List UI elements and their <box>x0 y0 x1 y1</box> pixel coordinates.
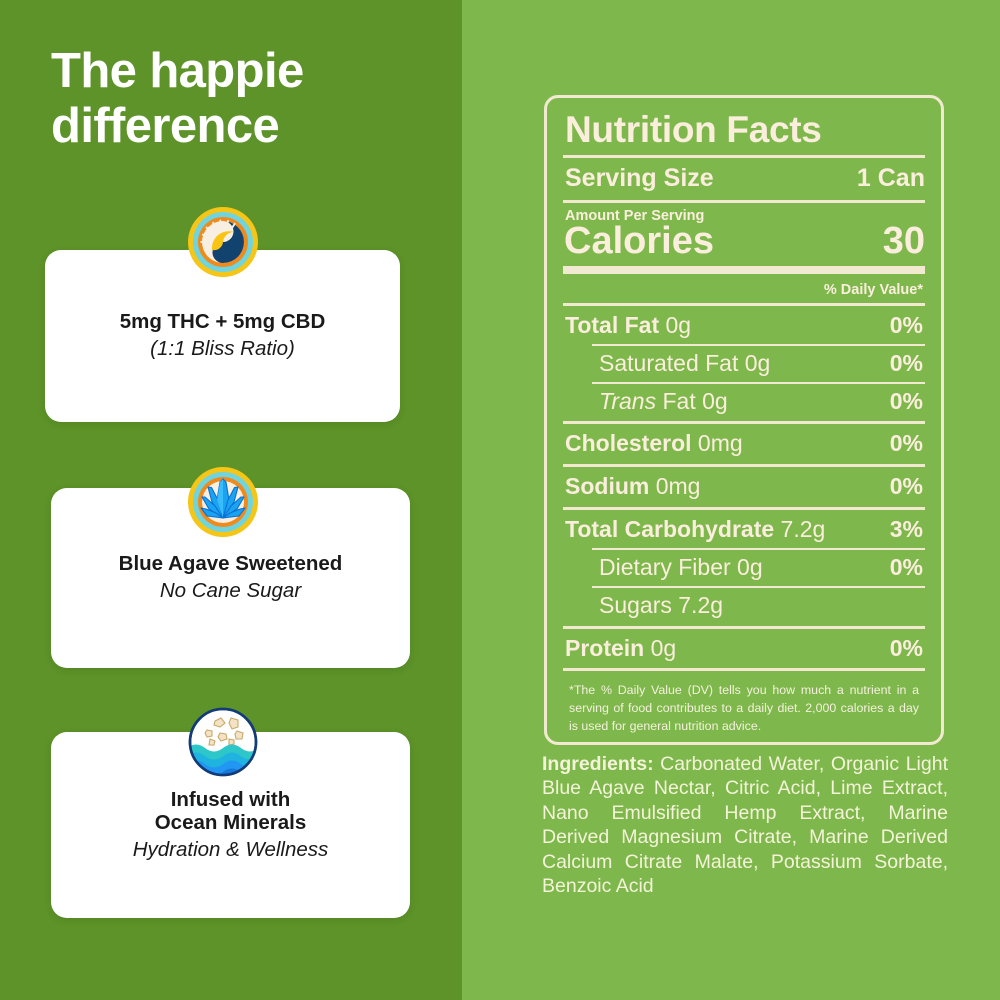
divider <box>592 548 925 550</box>
page-title: The happie difference <box>51 44 431 154</box>
headline-line-2: difference <box>51 99 431 154</box>
divider <box>563 155 925 158</box>
right-nutrition-panel: Nutrition Facts Serving Size 1 Can Amoun… <box>462 0 1000 1000</box>
nutrient-label: Protein 0g <box>565 636 676 661</box>
nutrition-facts-panel: Nutrition Facts Serving Size 1 Can Amoun… <box>544 95 944 745</box>
left-feature-panel: The happie difference 5mg THC + 5mg CBD … <box>0 0 462 1000</box>
calories-label: Calories <box>564 221 714 262</box>
nutrient-label: Saturated Fat 0g <box>599 351 770 376</box>
divider <box>563 464 925 467</box>
serving-size-row: Serving Size 1 Can <box>563 163 925 195</box>
divider <box>563 303 925 306</box>
nutrient-daily-value: 0% <box>890 431 923 456</box>
nutrient-daily-value: 0% <box>890 313 923 338</box>
feature-card-title: Blue Agave Sweetened <box>105 553 357 576</box>
serving-size-label: Serving Size <box>565 165 714 192</box>
agave-plant-icon <box>187 466 259 538</box>
ingredients-block: Ingredients: Carbonated Water, Organic L… <box>542 752 948 898</box>
page-root: The happie difference 5mg THC + 5mg CBD … <box>0 0 1000 1000</box>
divider <box>563 507 925 510</box>
nutrient-row: Trans Fat 0g0% <box>563 387 925 417</box>
calories-row: Calories 30 <box>563 221 925 262</box>
sun-moon-icon <box>187 206 259 278</box>
divider <box>592 586 925 588</box>
divider-thick <box>563 266 925 274</box>
divider <box>563 668 925 671</box>
nutrient-daily-value: 0% <box>890 389 923 414</box>
nutrient-rows: Total Fat 0g0%Saturated Fat 0g0%Trans Fa… <box>563 311 925 663</box>
ocean-minerals-icon <box>187 706 259 778</box>
nutrient-label: Sodium 0mg <box>565 474 700 499</box>
nutrient-daily-value: 0% <box>890 636 923 661</box>
nutrient-row: Sodium 0mg0% <box>563 472 925 502</box>
nutrient-row: Dietary Fiber 0g0% <box>563 553 925 583</box>
ingredients-label: Ingredients: <box>542 753 654 775</box>
nutrient-daily-value: 0% <box>890 555 923 580</box>
nutrient-label: Total Fat 0g <box>565 313 691 338</box>
nutrient-label: Sugars 7.2g <box>599 593 723 618</box>
nutrient-daily-value: 3% <box>890 517 923 542</box>
nutrition-facts-title: Nutrition Facts <box>563 106 925 150</box>
divider <box>592 344 925 346</box>
nutrient-label: Dietary Fiber 0g <box>599 555 763 580</box>
nutrient-row: Cholesterol 0mg0% <box>563 429 925 459</box>
divider <box>563 626 925 629</box>
nutrient-label: Total Carbohydrate 7.2g <box>565 517 825 542</box>
daily-value-footnote: *The % Daily Value (DV) tells you how mu… <box>563 676 925 736</box>
nutrient-daily-value: 0% <box>890 351 923 376</box>
feature-card-subtitle: No Cane Sugar <box>160 579 301 603</box>
serving-size-value: 1 Can <box>857 165 925 192</box>
divider <box>563 421 925 424</box>
divider <box>563 200 925 203</box>
divider <box>592 382 925 384</box>
nutrient-row: Protein 0g0% <box>563 634 925 664</box>
feature-card-title: 5mg THC + 5mg CBD <box>106 311 340 334</box>
nutrient-row: Total Carbohydrate 7.2g3% <box>563 515 925 545</box>
headline-line-1: The happie <box>51 44 304 98</box>
nutrient-daily-value: 0% <box>890 474 923 499</box>
nutrient-row: Sugars 7.2g <box>563 591 925 621</box>
nutrient-label: Cholesterol 0mg <box>565 431 743 456</box>
feature-card-subtitle: Hydration & Wellness <box>133 838 329 862</box>
nutrient-row: Saturated Fat 0g0% <box>563 349 925 379</box>
daily-value-header: % Daily Value* <box>563 278 925 298</box>
calories-value: 30 <box>883 221 925 262</box>
nutrient-label: Trans Fat 0g <box>599 389 728 414</box>
nutrient-row: Total Fat 0g0% <box>563 311 925 341</box>
feature-card-title: Infused with Ocean Minerals <box>123 789 338 835</box>
feature-card-subtitle: (1:1 Bliss Ratio) <box>150 337 295 361</box>
